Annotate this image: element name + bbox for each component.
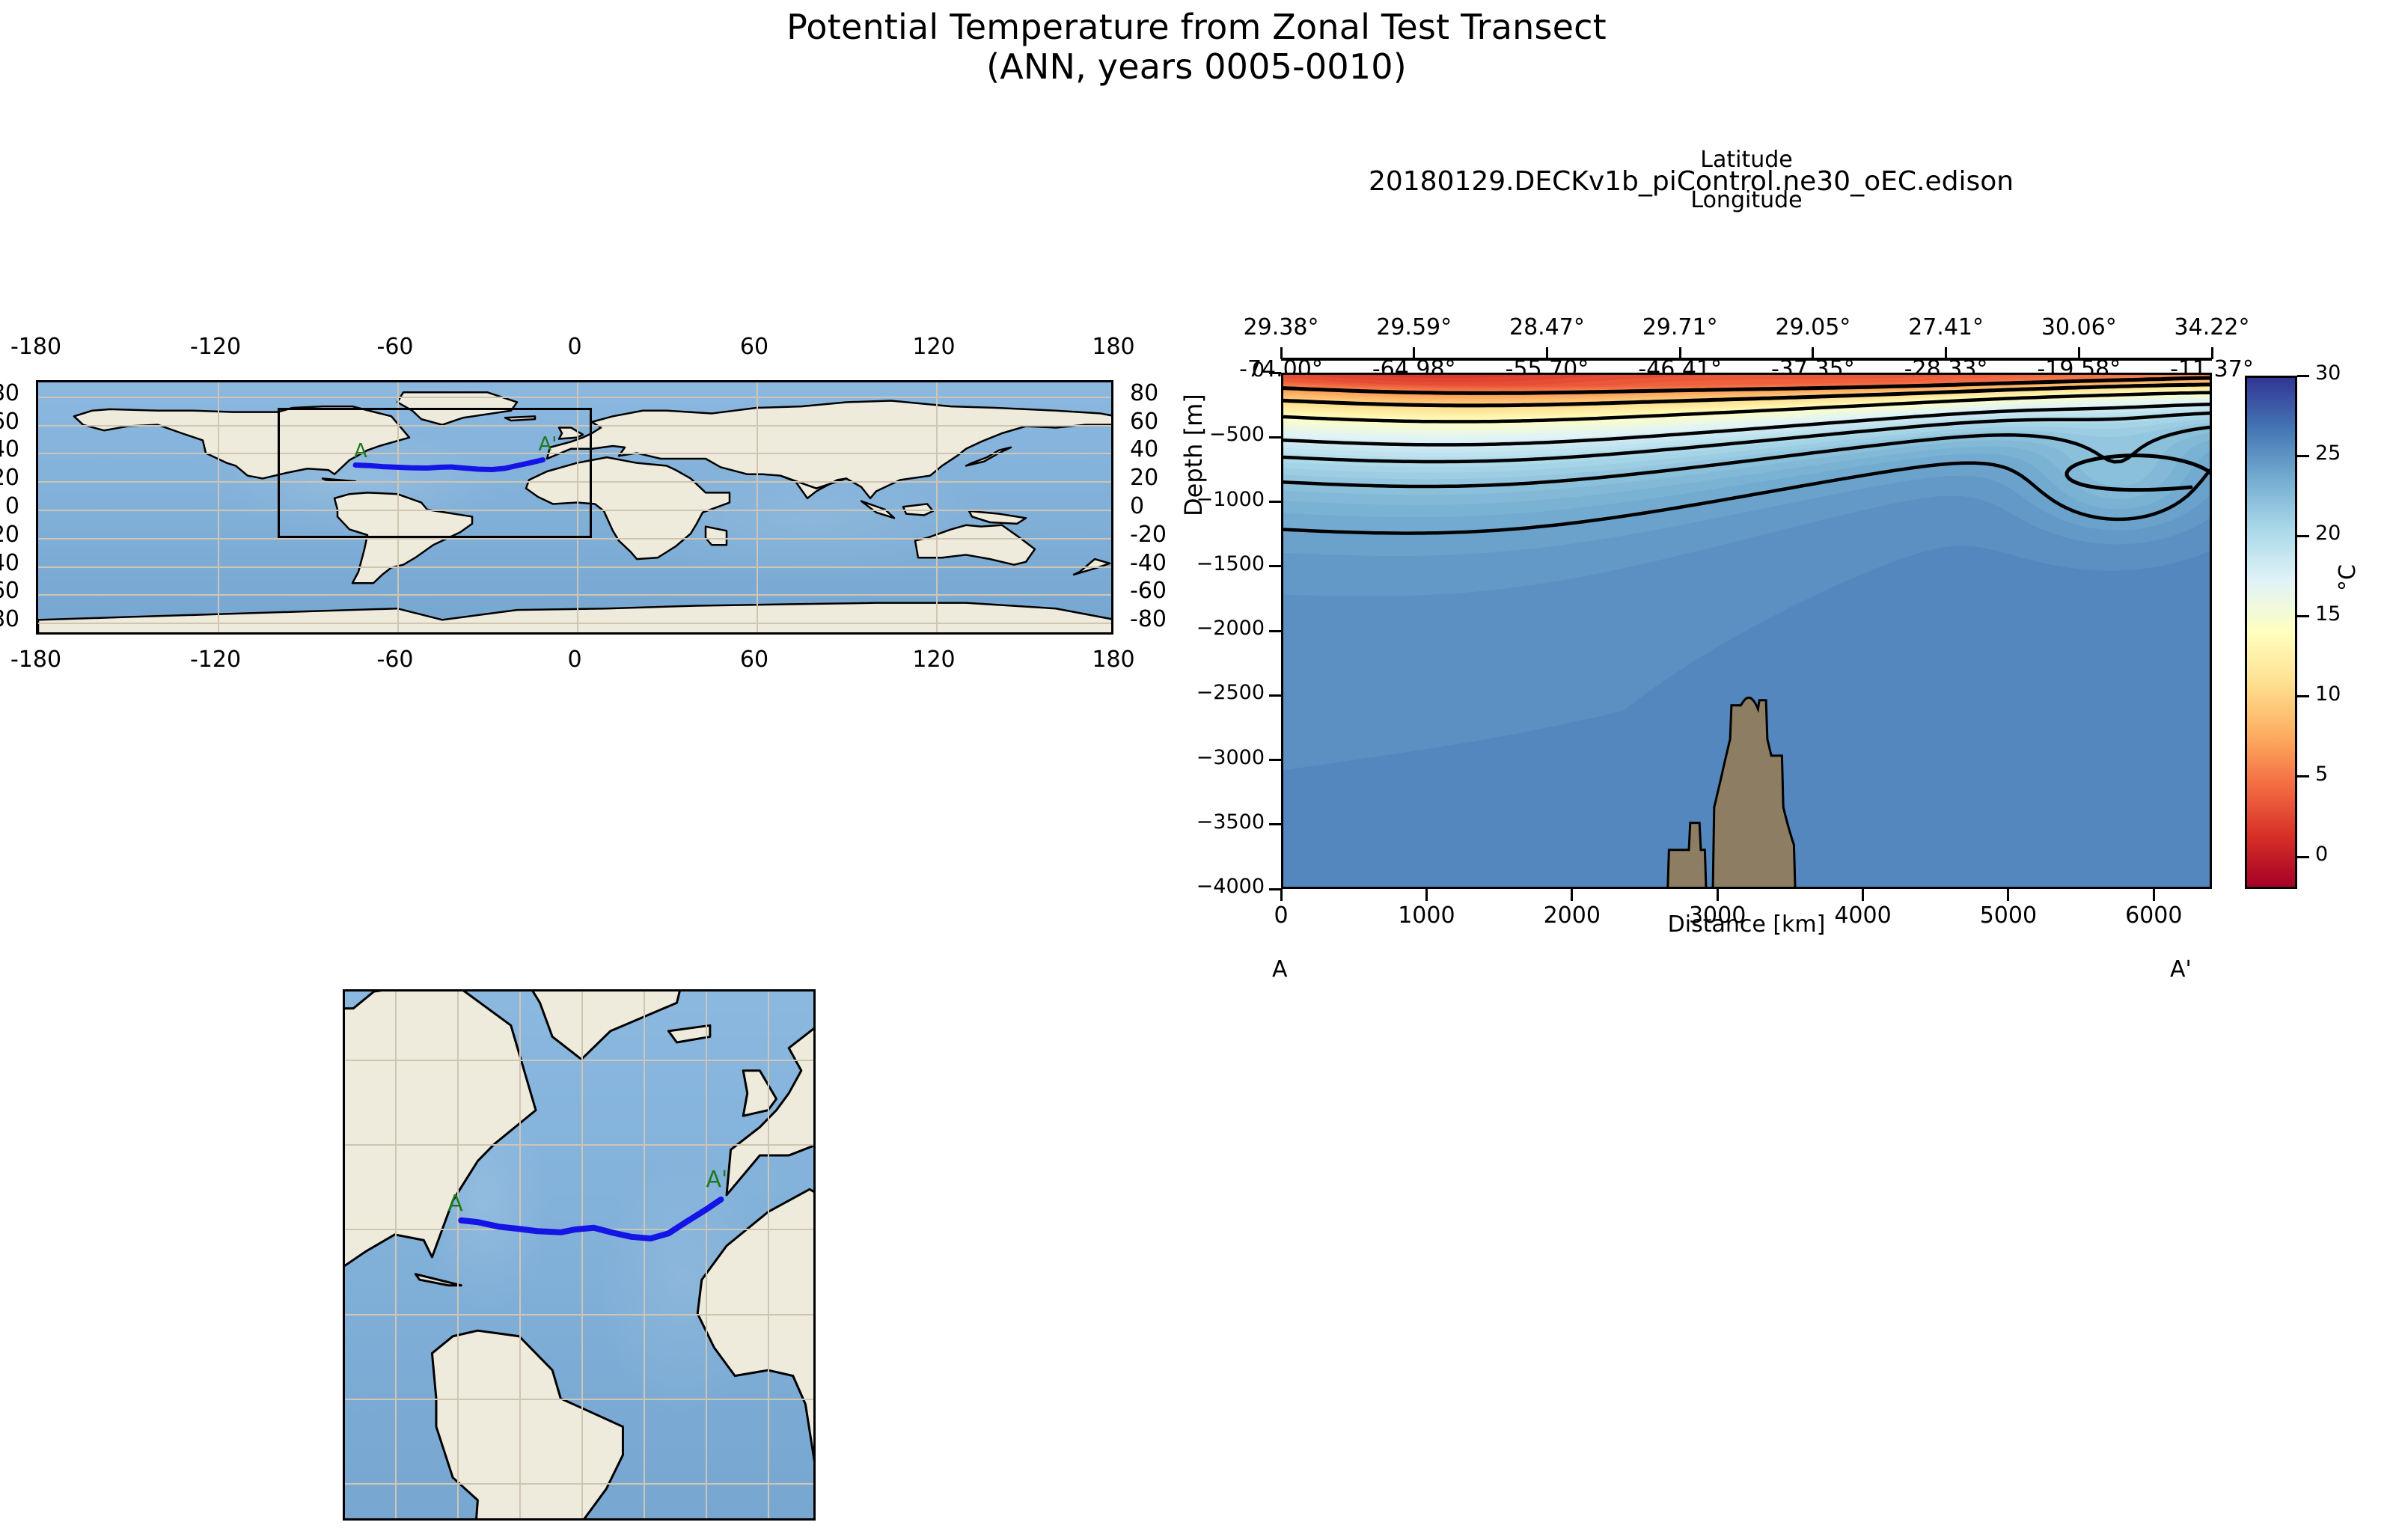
colorbar-tick-label: 25 bbox=[2315, 441, 2341, 465]
latitude-tick-label: 29.05° bbox=[1775, 314, 1850, 340]
world-transect-start-label: A bbox=[354, 440, 367, 462]
colorbar-tick-label: 5 bbox=[2315, 763, 2328, 786]
depth-tick-label: −3500 bbox=[1196, 810, 1265, 834]
world-transect-end-label: A' bbox=[539, 433, 557, 456]
distance-tickmark bbox=[1571, 889, 1573, 901]
latitude-tick-label: 30.06° bbox=[2041, 314, 2117, 340]
cross-section-field bbox=[1283, 375, 2212, 889]
transect-path bbox=[461, 1200, 721, 1238]
colorbar-tickmark bbox=[2297, 695, 2309, 697]
global-reference-map[interactable]: A A' bbox=[36, 380, 1113, 635]
colorbar-tick-label: 10 bbox=[2315, 682, 2341, 706]
depth-tickmark bbox=[1269, 436, 1281, 439]
world-lat-tick-left: 0 bbox=[5, 493, 19, 519]
world-lat-tick-right: -40 bbox=[1130, 550, 1167, 576]
world-lon-tick-top: 120 bbox=[912, 334, 955, 360]
depth-axis-label: Depth [m] bbox=[1179, 394, 1208, 516]
distance-tickmark bbox=[1425, 889, 1428, 901]
world-map-canvas[interactable]: A A' bbox=[36, 380, 1113, 635]
distance-tickmark bbox=[1717, 889, 1719, 901]
depth-tick-label: −500 bbox=[1209, 423, 1265, 446]
world-lat-tick-right: 60 bbox=[1130, 409, 1158, 435]
world-lat-tick-right: -80 bbox=[1130, 606, 1167, 632]
depth-tickmark bbox=[1269, 372, 1281, 374]
world-lon-tick-top: -60 bbox=[377, 334, 414, 360]
depth-tick-label: −2500 bbox=[1196, 681, 1265, 704]
world-lat-tick-right: 0 bbox=[1130, 493, 1144, 519]
world-lon-tick-bottom: 120 bbox=[912, 647, 955, 673]
transect-cross-section-plot[interactable] bbox=[1281, 373, 2212, 889]
latitude-tick-label: 27.41° bbox=[1908, 314, 1984, 340]
latitude-tick-label: 29.38° bbox=[1244, 314, 1319, 340]
colorbar-tickmark bbox=[2297, 775, 2309, 777]
distance-tickmark bbox=[1862, 889, 1864, 901]
figure-title-line2: (ANN, years 0005-0010) bbox=[0, 47, 2393, 87]
latitude-tick-label: 28.47° bbox=[1509, 314, 1585, 340]
colorbar-gradient bbox=[2245, 376, 2297, 889]
colorbar-unit-label: °C bbox=[2335, 564, 2361, 591]
distance-tickmark bbox=[2007, 889, 2009, 901]
latitude-tick-label: 34.22° bbox=[2175, 314, 2250, 340]
world-lon-tick-top: -180 bbox=[10, 334, 61, 360]
colorbar-tick-label: 30 bbox=[2315, 361, 2341, 385]
world-lon-tick-bottom: 0 bbox=[567, 647, 581, 673]
region-map-canvas[interactable]: A A' bbox=[343, 989, 816, 1521]
world-lon-tick-bottom: 60 bbox=[740, 647, 768, 673]
figure-title-line1: Potential Temperature from Zonal Test Tr… bbox=[786, 7, 1607, 47]
colorbar-tick-label: 15 bbox=[2315, 602, 2341, 626]
world-lat-tick-left: 60 bbox=[0, 409, 19, 435]
temperature-colorbar[interactable] bbox=[2245, 376, 2297, 889]
colorbar-tickmark bbox=[2297, 535, 2309, 537]
world-lon-tick-top: 0 bbox=[567, 334, 581, 360]
colorbar-tickmark bbox=[2297, 856, 2309, 858]
depth-tick-label: −3000 bbox=[1196, 746, 1265, 769]
depth-tickmark bbox=[1269, 823, 1281, 825]
cross-section-canvas[interactable] bbox=[1281, 373, 2212, 889]
depth-tickmark bbox=[1269, 759, 1281, 761]
latitude-tick-label: 29.71° bbox=[1642, 314, 1718, 340]
world-lon-tick-bottom: 180 bbox=[1092, 647, 1134, 673]
world-lon-tick-top: 180 bbox=[1092, 334, 1134, 360]
world-lat-tick-left: -60 bbox=[0, 578, 19, 604]
distance-axis-label: Distance [km] bbox=[1281, 911, 2212, 938]
colorbar-tickmark bbox=[2297, 375, 2309, 377]
world-lon-tick-bottom: -120 bbox=[190, 647, 241, 673]
figure-title: Potential Temperature from Zonal Test Tr… bbox=[0, 7, 2393, 88]
north-atlantic-inset-map[interactable]: A A' bbox=[343, 989, 816, 1521]
world-lat-tick-right: -20 bbox=[1130, 522, 1167, 548]
world-lon-tick-top: -120 bbox=[190, 334, 241, 360]
world-lat-tick-right: 80 bbox=[1130, 380, 1158, 406]
depth-tickmark bbox=[1269, 501, 1281, 503]
colorbar-tickmark bbox=[2297, 455, 2309, 457]
depth-tick-label: −1500 bbox=[1196, 552, 1265, 575]
world-lat-tick-right: 20 bbox=[1130, 465, 1158, 491]
depth-tickmark bbox=[1269, 565, 1281, 567]
distance-tickmark bbox=[1280, 889, 1283, 901]
world-lat-tick-right: -60 bbox=[1130, 578, 1167, 604]
colorbar-tick-label: 20 bbox=[2315, 522, 2341, 545]
world-lat-tick-left: 80 bbox=[0, 380, 19, 406]
world-lat-tick-left: 40 bbox=[0, 436, 19, 462]
latitude-axis-label: Latitude bbox=[1281, 147, 2212, 173]
region-transect-end-label: A' bbox=[706, 1167, 727, 1193]
world-lat-tick-right: 40 bbox=[1130, 436, 1158, 462]
world-lon-tick-bottom: -60 bbox=[377, 647, 414, 673]
world-lon-tick-top: 60 bbox=[740, 334, 768, 360]
world-lat-tick-left: 20 bbox=[0, 465, 19, 491]
colorbar-tickmark bbox=[2297, 615, 2309, 617]
depth-tick-label: 0 bbox=[1252, 358, 1265, 382]
region-transect-line bbox=[345, 991, 816, 1521]
depth-tick-label: −2000 bbox=[1196, 617, 1265, 640]
colorbar-tick-label: 0 bbox=[2315, 843, 2328, 866]
cross-section-end-label: A' bbox=[2170, 956, 2192, 983]
depth-tickmark bbox=[1269, 694, 1281, 697]
world-lat-tick-left: -40 bbox=[0, 550, 19, 576]
latitude-tick-label: 29.59° bbox=[1376, 314, 1452, 340]
cross-section-start-label: A bbox=[1272, 956, 1288, 983]
depth-tick-label: −4000 bbox=[1196, 875, 1265, 898]
world-lon-tick-bottom: -180 bbox=[10, 647, 61, 673]
world-lat-tick-left: -20 bbox=[0, 522, 19, 548]
region-transect-start-label: A bbox=[447, 1191, 463, 1217]
inset-region-box bbox=[278, 408, 592, 538]
depth-tickmark bbox=[1269, 630, 1281, 632]
distance-tickmark bbox=[2153, 889, 2155, 901]
longitude-axis-label: Longitude bbox=[1281, 187, 2212, 213]
world-lat-tick-left: -80 bbox=[0, 606, 19, 632]
